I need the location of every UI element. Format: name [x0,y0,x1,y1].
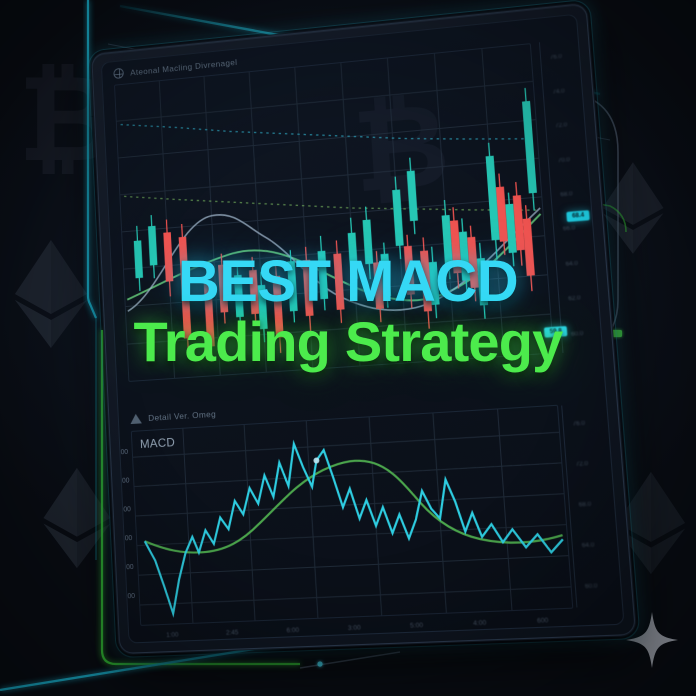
candlestick-plot[interactable] [114,43,554,382]
price-tick: 76.0 [550,54,562,61]
macd-x-tick: 3:00 [348,624,361,632]
price-panel[interactable]: Ateonal Macling Divrenagel ₿ [102,15,604,408]
macd-y-tick: .00 [124,564,137,572]
macd-right-tick: 72.0 [576,461,589,468]
macd-svg [132,406,572,625]
macd-y-tick: 600 [120,506,134,514]
triangle-alert-icon [130,414,142,425]
macd-x-tick: 2:45 [226,629,239,637]
globe-grid-icon [113,68,124,79]
macd-x-tick: 5:00 [410,621,423,629]
secondary-price-badge[interactable]: 59.8 [544,326,567,338]
price-tick: 74.0 [552,88,564,95]
macd-right-tick: 60.0 [585,583,598,590]
price-tick: 60.0 [571,331,584,338]
trading-terminal-device[interactable]: Ateonal Macling Divrenagel ₿ [91,3,636,654]
macd-y-tick: 100 [121,535,135,543]
macd-plot[interactable]: MACD 300 800 600 100 .00 100 [131,405,574,626]
macd-x-tick: 600 [537,617,549,625]
candle-series [129,88,548,367]
price-tick: 62.0 [568,296,581,303]
price-tick: 70.0 [558,157,570,164]
price-tick: 66.0 [563,226,576,233]
macd-y-tick: 300 [117,449,131,457]
price-tick: 68.0 [560,191,573,198]
candlestick-svg [115,44,553,381]
device-screen[interactable]: Ateonal Macling Divrenagel ₿ [101,14,625,644]
current-price-badge[interactable]: 68.4 [567,210,590,222]
macd-right-tick: 76.0 [573,421,586,428]
price-tick: 72.0 [555,122,567,129]
macd-x-tick: 4:00 [473,619,487,627]
macd-panel-title: Detail Ver. Omeg [148,409,216,423]
macd-x-tick: 1:00 [166,631,179,639]
macd-x-tick: 6:00 [286,626,299,634]
macd-y-tick: 800 [118,477,132,485]
macd-right-tick: 64.0 [582,542,595,549]
macd-panel[interactable]: Detail Ver. Omeg MACD 300 800 600 100 .0… [118,377,623,642]
price-tick: 64.0 [566,261,579,268]
macd-y-tick: 100 [124,593,138,601]
macd-right-tick: 68.0 [579,502,592,509]
